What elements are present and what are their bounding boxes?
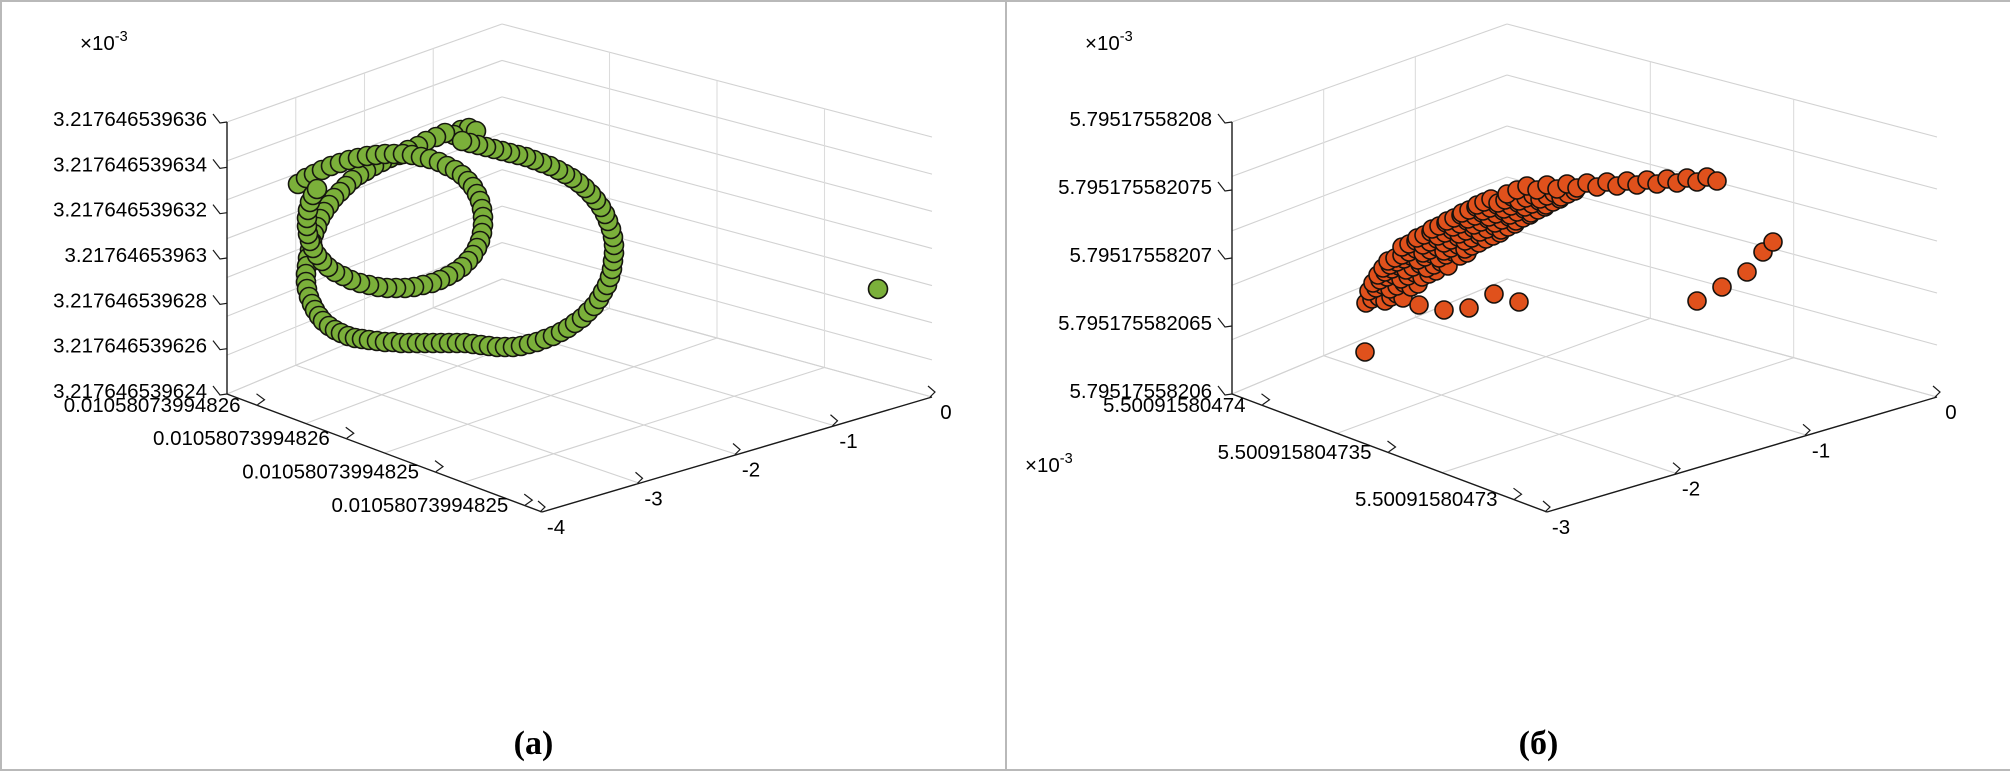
- z-tick-mark: [213, 250, 227, 259]
- tick-label-group: 3.2176465396363.2176465396343.2176465396…: [53, 29, 952, 539]
- z-tick-mark: [1218, 318, 1232, 327]
- data-point: [1688, 292, 1706, 310]
- y-tick-mark: [257, 394, 265, 405]
- z-tick-mark: [213, 114, 227, 123]
- data-point: [1764, 233, 1782, 251]
- y-axis-exponent-label: ×10-3: [1025, 451, 1073, 477]
- x-tick-mark: [733, 444, 740, 455]
- grid-z-line: [1507, 24, 1937, 137]
- x-tick-mark: [831, 415, 838, 426]
- x-tick-label: -1: [1812, 439, 1830, 462]
- z-tick-mark: [213, 341, 227, 350]
- x-tick-label: -3: [1552, 516, 1570, 539]
- y-tick-mark: [524, 494, 532, 505]
- y-tick-label: 0.01058073994826: [153, 427, 330, 450]
- z-axis-exponent-superscript: -3: [1120, 29, 1133, 45]
- y-tick-mark: [1388, 441, 1396, 452]
- x-tick-label: -1: [839, 430, 857, 453]
- y-tick-label: 5.50091580473: [1355, 488, 1498, 511]
- y-tick-mark: [346, 427, 354, 438]
- z-axis-exponent-label: ×10-3: [80, 29, 128, 55]
- y-tick-label: 5.500915804735: [1218, 441, 1372, 464]
- z-tick-label: 5.795175582065: [1058, 312, 1212, 335]
- z-tick-label: 5.795175582075: [1058, 176, 1212, 199]
- z-tick-label: 3.217646539626: [53, 335, 207, 358]
- data-points-group: [289, 119, 888, 357]
- x-axis-line: [542, 397, 932, 512]
- grid-group: [1232, 24, 1937, 512]
- data-point: [308, 180, 327, 199]
- data-point: [1738, 263, 1756, 281]
- data-point: [1410, 296, 1428, 314]
- z-tick-label: 3.21764653963: [64, 244, 207, 267]
- y-tick-mark: [1262, 394, 1270, 405]
- z-tick-label: 3.217646539628: [53, 289, 207, 312]
- panel-a-caption: (a): [2, 725, 1005, 763]
- data-points-group: [1356, 168, 1782, 361]
- x-tick-mark: [928, 386, 935, 397]
- x-tick-mark: [1803, 424, 1810, 435]
- z-tick-mark: [1218, 182, 1232, 191]
- z-tick-label: 3.217646539634: [53, 153, 207, 176]
- x-tick-mark: [1933, 386, 1940, 397]
- x-tick-label: -3: [644, 487, 662, 510]
- z-axis-exponent-superscript: -3: [115, 29, 128, 45]
- panel-b-caption: (б): [1007, 725, 2010, 763]
- data-point: [1713, 278, 1731, 296]
- x-tick-label: 0: [940, 401, 951, 424]
- data-point: [1435, 301, 1453, 319]
- z-axis-exponent-label: ×10-3: [1085, 29, 1133, 55]
- z-tick-mark: [213, 159, 227, 168]
- z-tick-label: 5.79517558207: [1069, 244, 1212, 267]
- x-tick-label: 0: [1945, 401, 1956, 424]
- z-tick-mark: [213, 295, 227, 304]
- figure-root: 3.2176465396363.2176465396343.2176465396…: [0, 0, 2010, 771]
- y-tick-label: 0.01058073994825: [332, 494, 509, 517]
- y-tick-label: 5.50091580474: [1103, 394, 1246, 417]
- data-point: [1356, 343, 1374, 361]
- data-point: [1708, 172, 1726, 190]
- panel-b: 5.795175582085.7951755820755.79517558207…: [1005, 2, 2010, 769]
- y-tick-label: 0.01058073994826: [64, 394, 241, 417]
- grid-z-line: [1232, 24, 1507, 122]
- data-point: [1460, 299, 1478, 317]
- z-tick-mark: [213, 205, 227, 214]
- z-tick-mark: [1218, 250, 1232, 259]
- z-tick-label: 3.217646539632: [53, 199, 207, 222]
- data-point: [869, 280, 888, 299]
- grid-floor-x: [385, 338, 718, 453]
- data-point: [453, 132, 472, 151]
- z-tick-label: 5.79517558208: [1069, 108, 1212, 131]
- y-tick-mark: [435, 461, 443, 472]
- x-tick-label: -2: [742, 459, 760, 482]
- scatter-plot-b: 5.795175582085.7951755820755.79517558207…: [1007, 2, 2010, 702]
- scatter-plot-a: 3.2176465396363.2176465396343.2176465396…: [2, 2, 1005, 702]
- x-tick-label: -2: [1682, 478, 1700, 501]
- panel-a: 3.2176465396363.2176465396343.2176465396…: [2, 2, 1005, 769]
- grid-z-line: [1507, 75, 1937, 189]
- y-tick-label: 0.01058073994825: [242, 461, 419, 484]
- y-axis-exponent-superscript: -3: [1060, 451, 1073, 467]
- x-tick-mark: [1673, 463, 1680, 474]
- y-tick-mark: [1514, 488, 1522, 499]
- z-tick-mark: [1218, 114, 1232, 123]
- data-point: [1510, 293, 1528, 311]
- data-point: [1485, 285, 1503, 303]
- x-tick-mark: [636, 472, 643, 483]
- z-tick-label: 3.217646539636: [53, 108, 207, 131]
- x-tick-label: -4: [547, 516, 565, 539]
- grid-z-line: [1232, 75, 1507, 176]
- x-axis-line: [1547, 397, 1937, 512]
